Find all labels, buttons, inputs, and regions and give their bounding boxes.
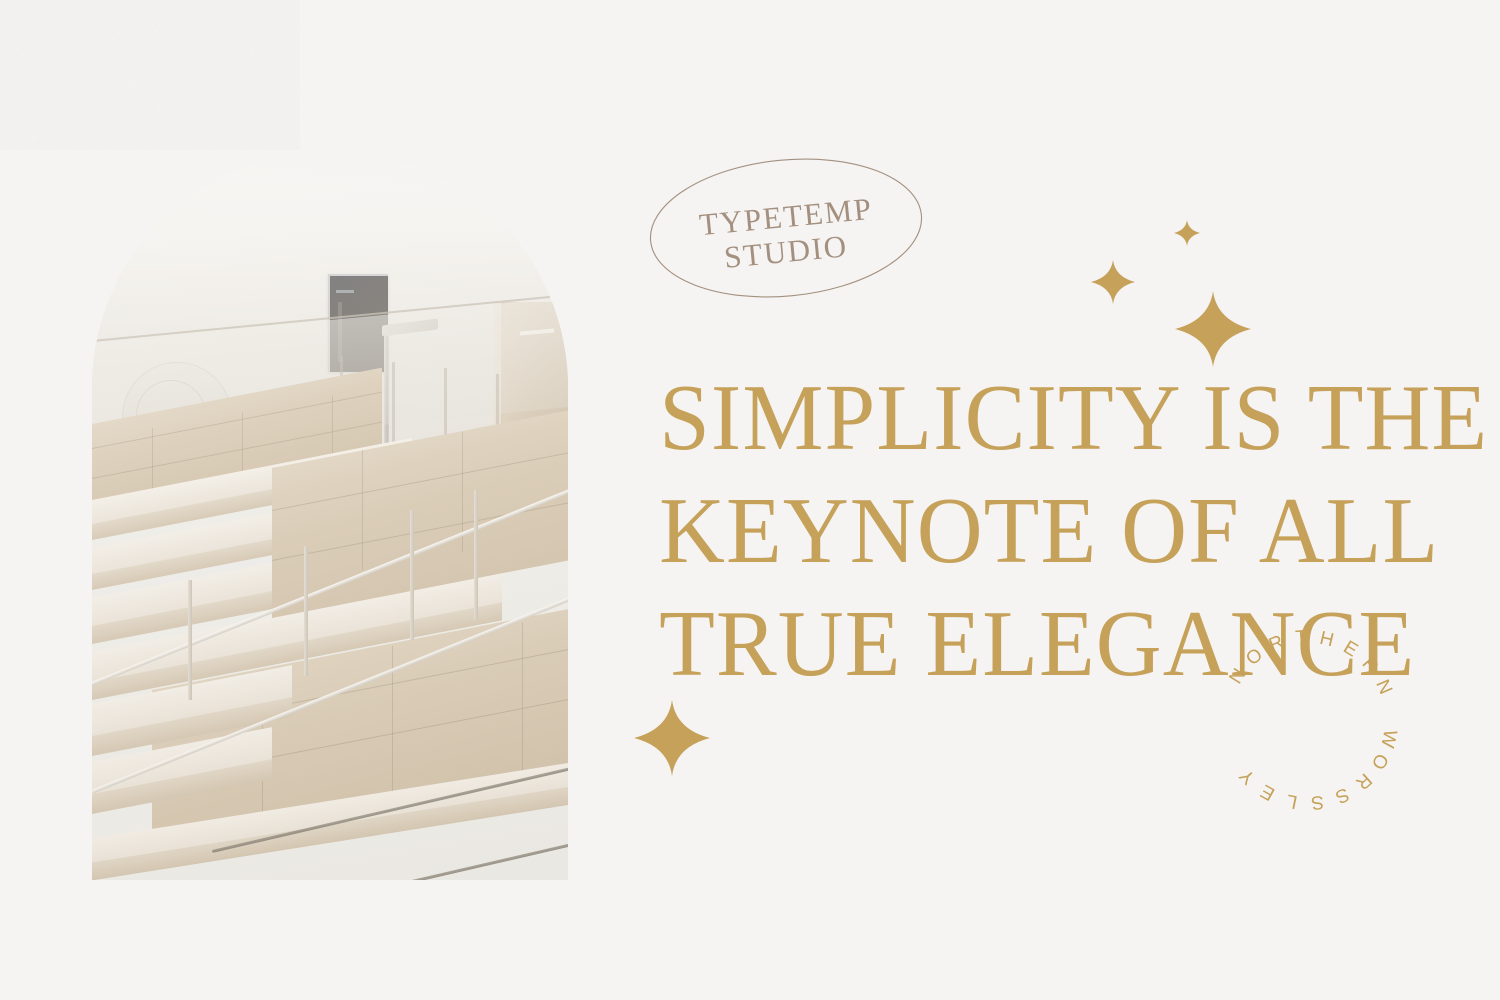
- arch-photo: [92, 150, 568, 880]
- sparkle-small-upper-icon: [1091, 260, 1135, 304]
- poster-canvas: TYPETEMP STUDIO SIMPLICITY IS THE KEYNOT…: [0, 0, 1500, 1000]
- window-glint: [336, 290, 354, 293]
- paper-grain-texture: [0, 0, 300, 150]
- headline-line-1: SIMPLICITY IS THE: [659, 362, 1377, 475]
- headline-line-2: KEYNOTE OF ALL: [659, 475, 1377, 588]
- baluster: [410, 510, 414, 640]
- baluster: [474, 490, 478, 620]
- baluster: [304, 546, 308, 676]
- stone-joint-v: [522, 622, 523, 772]
- sparkle-tiny-top-icon: [1174, 220, 1200, 246]
- oval-badge: TYPETEMP STUDIO: [648, 158, 924, 298]
- circular-stamp: NORTHERNWORSSLEY: [1208, 620, 1408, 820]
- photo-scene: [92, 150, 568, 880]
- stone-joint-v: [362, 450, 363, 570]
- sparkle-large-left-icon: [634, 700, 710, 776]
- sparkle-large-right-icon: [1175, 291, 1251, 367]
- baluster: [188, 580, 192, 700]
